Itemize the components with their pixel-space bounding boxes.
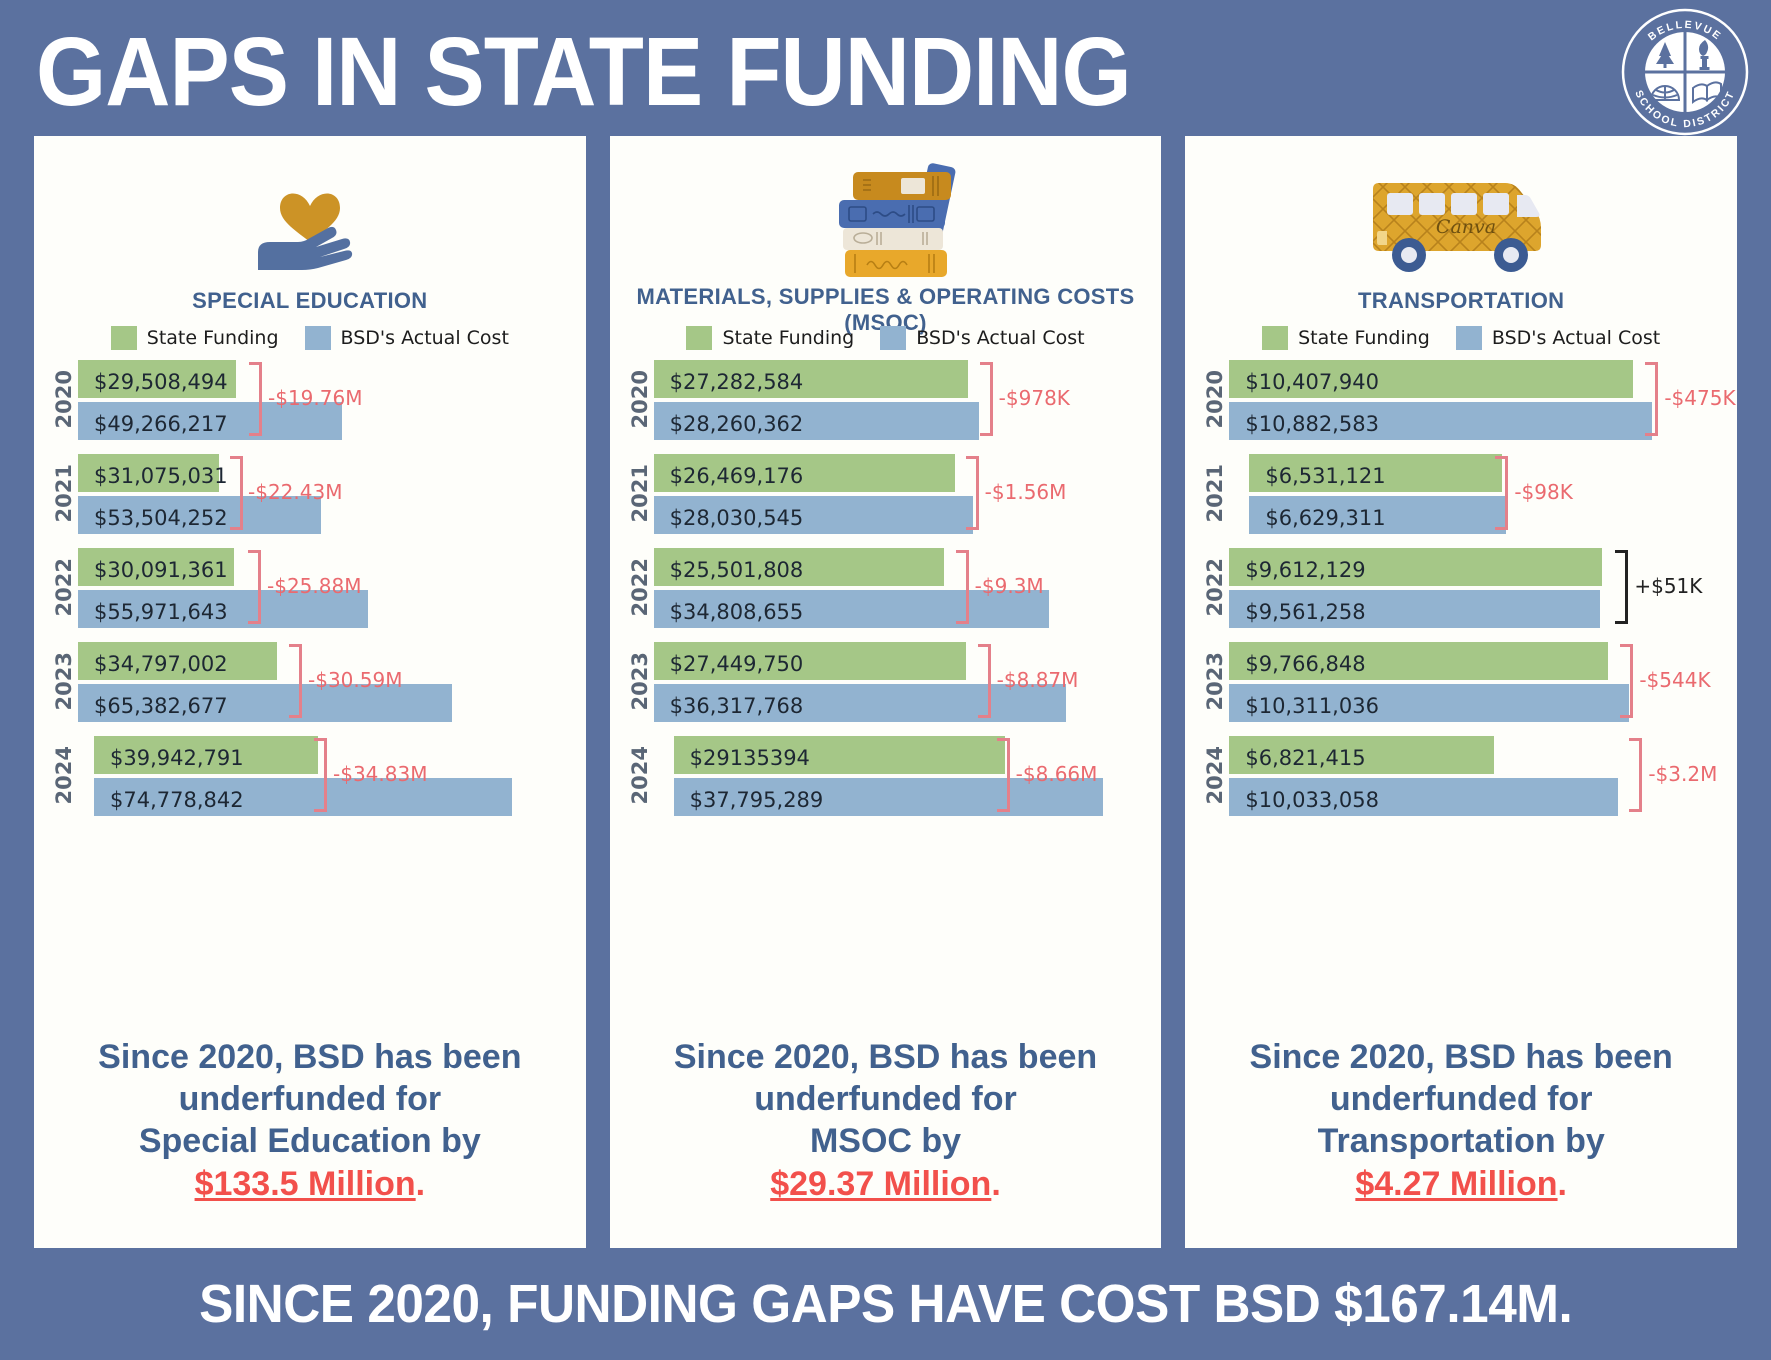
year-label: 2024 <box>1203 746 1229 804</box>
bar-group: $9,766,848$10,311,036-$544K <box>1229 640 1727 724</box>
legend-transportation: State Funding BSD's Actual Cost <box>1185 326 1737 350</box>
bar-label-state-funding: $25,501,808 <box>670 558 804 582</box>
bar-label-state-funding: $39,942,791 <box>110 746 244 770</box>
panel-special-education: SPECIAL EDUCATION State Funding BSD's Ac… <box>34 136 586 1248</box>
gap-bracket <box>1615 550 1628 624</box>
summary-line-1: Since 2020, BSD has been <box>52 1036 568 1078</box>
year-label: 2020 <box>1203 370 1229 428</box>
gap-annotation: -$544K <box>1639 668 1710 692</box>
page-title: GAPS IN STATE FUNDING <box>36 22 1131 122</box>
bar-label-actual-cost: $34,808,655 <box>670 600 804 624</box>
chart-row: 2024$39,942,791$74,778,842-$34.83M <box>52 732 576 819</box>
panel-transportation: Canva TRANSPORTATION State Funding BSD's… <box>1185 136 1737 1248</box>
panel-header-transportation: Canva TRANSPORTATION <box>1185 136 1737 322</box>
bar-label-state-funding: $10,407,940 <box>1245 370 1379 394</box>
year-label: 2024 <box>52 746 78 804</box>
summary-amount-text: $4.27 Million <box>1355 1165 1557 1203</box>
year-label: 2023 <box>52 652 78 710</box>
gap-bracket <box>1645 362 1658 436</box>
bar-label-state-funding: $34,797,002 <box>94 652 228 676</box>
bar-label-state-funding: $26,469,176 <box>670 464 804 488</box>
year-label: 2023 <box>1203 652 1229 710</box>
summary-transportation: Since 2020, BSD has been underfunded for… <box>1185 1036 1737 1206</box>
summary-amount-suffix: . <box>1558 1165 1567 1203</box>
chart-transportation: 2020$10,407,940$10,882,583-$475K2021$6,5… <box>1185 356 1737 819</box>
bar-group: $30,091,361$55,971,643-$25.88M <box>78 546 576 630</box>
bar-label-state-funding: $27,282,584 <box>670 370 804 394</box>
footer-total-text: SINCE 2020, FUNDING GAPS HAVE COST BSD $… <box>199 1273 1572 1335</box>
chart-row: 2021$31,075,031$53,504,252-$22.43M <box>52 450 576 537</box>
bar-label-actual-cost: $37,795,289 <box>690 788 824 812</box>
legend-swatch-state-funding <box>1262 326 1288 350</box>
gap-bracket <box>1629 738 1642 812</box>
bar-label-actual-cost: $53,504,252 <box>94 506 228 530</box>
bar-label-state-funding: $9,766,848 <box>1245 652 1365 676</box>
year-label: 2022 <box>628 558 654 616</box>
gap-annotation: -$8.87M <box>997 668 1079 692</box>
bar-label-actual-cost: $28,260,362 <box>670 412 804 436</box>
bar-label-state-funding: $31,075,031 <box>94 464 228 488</box>
summary-line-2: underfunded for <box>1203 1078 1719 1120</box>
bar-group: $34,797,002$65,382,677-$30.59M <box>78 640 576 724</box>
chart-row: 2023$34,797,002$65,382,677-$30.59M <box>52 638 576 725</box>
gap-bracket <box>248 550 261 624</box>
chart-row: 2021$6,531,121$6,629,311-$98K <box>1203 450 1727 537</box>
year-label: 2023 <box>628 652 654 710</box>
year-label: 2020 <box>52 370 78 428</box>
legend-swatch-state-funding <box>111 326 137 350</box>
gap-annotation: -$978K <box>999 386 1070 410</box>
gap-annotation: -$19.76M <box>268 386 362 410</box>
legend-label-actual-cost: BSD's Actual Cost <box>1492 327 1660 349</box>
year-label: 2021 <box>628 464 654 522</box>
gap-annotation: -$9.3M <box>975 574 1044 598</box>
chart-row: 2020$10,407,940$10,882,583-$475K <box>1203 356 1727 443</box>
bar-label-state-funding: $6,821,415 <box>1245 746 1365 770</box>
bar-label-state-funding: $29135394 <box>690 746 810 770</box>
bar-group: $31,075,031$53,504,252-$22.43M <box>78 452 576 536</box>
gap-annotation: -$3.2M <box>1648 762 1717 786</box>
bellevue-school-district-logo: BELLEVUE SCHOOL DISTRICT <box>1615 4 1755 139</box>
legend-item-actual-cost: BSD's Actual Cost <box>880 326 1084 350</box>
gap-bracket <box>978 644 991 718</box>
chart-row: 2022$25,501,808$34,808,655-$9.3M <box>628 544 1152 631</box>
stack-of-books-icon <box>610 150 1162 280</box>
chart-row: 2024$6,821,415$10,033,058-$3.2M <box>1203 732 1727 819</box>
gap-annotation: -$34.83M <box>333 762 427 786</box>
legend-label-state-funding: State Funding <box>147 327 279 349</box>
school-bus-icon: Canva <box>1185 150 1737 280</box>
bar-group: $6,531,121$6,629,311-$98K <box>1229 452 1727 536</box>
legend-item-actual-cost: BSD's Actual Cost <box>1456 326 1660 350</box>
footer-banner: SINCE 2020, FUNDING GAPS HAVE COST BSD $… <box>0 1248 1771 1360</box>
gap-annotation: -$1.56M <box>985 480 1067 504</box>
chart-special-education: 2020$29,508,494$49,266,217-$19.76M2021$3… <box>34 356 586 819</box>
legend-swatch-actual-cost <box>1456 326 1482 350</box>
gap-bracket <box>980 362 993 436</box>
legend-special-education: State Funding BSD's Actual Cost <box>34 326 586 350</box>
header: GAPS IN STATE FUNDING <box>0 0 1771 140</box>
gap-bracket <box>1620 644 1633 718</box>
gap-annotation: -$22.43M <box>248 480 342 504</box>
legend-label-state-funding: State Funding <box>722 327 854 349</box>
summary-line-2: underfunded for <box>628 1078 1144 1120</box>
bar-group: $10,407,940$10,882,583-$475K <box>1229 358 1727 442</box>
chart-row: 2024$29135394$37,795,289-$8.66M <box>628 732 1152 819</box>
summary-amount-msoc: $29.37 Million. <box>770 1162 1001 1206</box>
panel-title-msoc-line1: MATERIALS, SUPPLIES & OPERATING COSTS <box>637 284 1135 309</box>
bar-label-state-funding: $29,508,494 <box>94 370 228 394</box>
summary-line-2: underfunded for <box>52 1078 568 1120</box>
panel-header-msoc: MATERIALS, SUPPLIES & OPERATING COSTS (M… <box>610 136 1162 322</box>
gap-annotation: -$30.59M <box>308 668 402 692</box>
year-label: 2020 <box>628 370 654 428</box>
gap-bracket <box>1495 456 1508 530</box>
bar-group: $27,282,584$28,260,362-$978K <box>654 358 1152 442</box>
gap-annotation: -$8.66M <box>1016 762 1098 786</box>
summary-line-3: MSOC by <box>628 1120 1144 1162</box>
bar-label-actual-cost: $65,382,677 <box>94 694 228 718</box>
summary-line-3: Transportation by <box>1203 1120 1719 1162</box>
gap-bracket <box>314 738 327 812</box>
bar-label-actual-cost: $36,317,768 <box>670 694 804 718</box>
legend-item-state-funding: State Funding <box>1262 326 1430 350</box>
summary-amount-suffix: . <box>416 1165 425 1203</box>
gap-bracket <box>249 362 262 436</box>
gap-annotation: +$51K <box>1634 574 1702 598</box>
legend-item-state-funding: State Funding <box>111 326 279 350</box>
summary-special-education: Since 2020, BSD has been underfunded for… <box>34 1036 586 1206</box>
chart-row: 2020$29,508,494$49,266,217-$19.76M <box>52 356 576 443</box>
year-label: 2022 <box>52 558 78 616</box>
legend-label-actual-cost: BSD's Actual Cost <box>341 327 509 349</box>
bar-label-actual-cost: $28,030,545 <box>670 506 804 530</box>
panel-title-special-education: SPECIAL EDUCATION <box>34 288 586 314</box>
bar-label-actual-cost: $10,882,583 <box>1245 412 1379 436</box>
legend-swatch-actual-cost <box>305 326 331 350</box>
bar-group: $29,508,494$49,266,217-$19.76M <box>78 358 576 442</box>
bar-label-state-funding: $6,531,121 <box>1265 464 1385 488</box>
gap-bracket <box>230 456 243 530</box>
legend-label-state-funding: State Funding <box>1298 327 1430 349</box>
gap-bracket <box>289 644 302 718</box>
bus-watermark-text: Canva <box>1436 216 1496 238</box>
legend-item-actual-cost: BSD's Actual Cost <box>305 326 509 350</box>
year-label: 2021 <box>52 464 78 522</box>
summary-amount-suffix: . <box>991 1165 1000 1203</box>
bar-group: $25,501,808$34,808,655-$9.3M <box>654 546 1152 630</box>
bar-label-state-funding: $9,612,129 <box>1245 558 1365 582</box>
heart-in-hand-icon <box>34 150 586 280</box>
chart-row: 2023$27,449,750$36,317,768-$8.87M <box>628 638 1152 725</box>
gap-annotation: -$25.88M <box>267 574 361 598</box>
bar-label-actual-cost: $55,971,643 <box>94 600 228 624</box>
legend-swatch-actual-cost <box>880 326 906 350</box>
bar-label-actual-cost: $74,778,842 <box>110 788 244 812</box>
panel-msoc: MATERIALS, SUPPLIES & OPERATING COSTS (M… <box>610 136 1162 1248</box>
bar-group: $9,612,129$9,561,258+$51K <box>1229 546 1727 630</box>
chart-row: 2020$27,282,584$28,260,362-$978K <box>628 356 1152 443</box>
summary-amount-text: $29.37 Million <box>770 1165 991 1203</box>
summary-line-3: Special Education by <box>52 1120 568 1162</box>
year-label: 2024 <box>628 746 654 804</box>
bar-label-actual-cost: $9,561,258 <box>1245 600 1365 624</box>
year-label: 2021 <box>1203 464 1229 522</box>
summary-line-1: Since 2020, BSD has been <box>628 1036 1144 1078</box>
bar-group: $27,449,750$36,317,768-$8.87M <box>654 640 1152 724</box>
gap-bracket <box>966 456 979 530</box>
chart-row: 2022$9,612,129$9,561,258+$51K <box>1203 544 1727 631</box>
year-label: 2022 <box>1203 558 1229 616</box>
summary-amount-text: $133.5 Million <box>195 1165 416 1203</box>
bar-label-actual-cost: $6,629,311 <box>1265 506 1385 530</box>
summary-line-1: Since 2020, BSD has been <box>1203 1036 1719 1078</box>
bar-group: $6,821,415$10,033,058-$3.2M <box>1229 734 1727 818</box>
gap-bracket <box>997 738 1010 812</box>
bar-group: $26,469,176$28,030,545-$1.56M <box>654 452 1152 536</box>
chart-msoc: 2020$27,282,584$28,260,362-$978K2021$26,… <box>610 356 1162 819</box>
legend-label-actual-cost: BSD's Actual Cost <box>916 327 1084 349</box>
bar-group: $29135394$37,795,289-$8.66M <box>654 734 1152 818</box>
chart-row: 2023$9,766,848$10,311,036-$544K <box>1203 638 1727 725</box>
chart-row: 2022$30,091,361$55,971,643-$25.88M <box>52 544 576 631</box>
legend-msoc: State Funding BSD's Actual Cost <box>610 326 1162 350</box>
gap-bracket <box>956 550 969 624</box>
gap-annotation: -$475K <box>1664 386 1735 410</box>
legend-item-state-funding: State Funding <box>686 326 854 350</box>
bar-label-state-funding: $30,091,361 <box>94 558 228 582</box>
summary-amount-special-education: $133.5 Million. <box>195 1162 426 1206</box>
panels-container: SPECIAL EDUCATION State Funding BSD's Ac… <box>34 136 1737 1248</box>
bar-label-state-funding: $27,449,750 <box>670 652 804 676</box>
summary-msoc: Since 2020, BSD has been underfunded for… <box>610 1036 1162 1206</box>
summary-amount-transportation: $4.27 Million. <box>1355 1162 1567 1206</box>
bar-label-actual-cost: $10,033,058 <box>1245 788 1379 812</box>
legend-swatch-state-funding <box>686 326 712 350</box>
bar-group: $39,942,791$74,778,842-$34.83M <box>78 734 576 818</box>
panel-header-special-education: SPECIAL EDUCATION <box>34 136 586 322</box>
gap-annotation: -$98K <box>1514 480 1573 504</box>
chart-row: 2021$26,469,176$28,030,545-$1.56M <box>628 450 1152 537</box>
bar-label-actual-cost: $49,266,217 <box>94 412 228 436</box>
panel-title-transportation: TRANSPORTATION <box>1185 288 1737 314</box>
bar-label-actual-cost: $10,311,036 <box>1245 694 1379 718</box>
